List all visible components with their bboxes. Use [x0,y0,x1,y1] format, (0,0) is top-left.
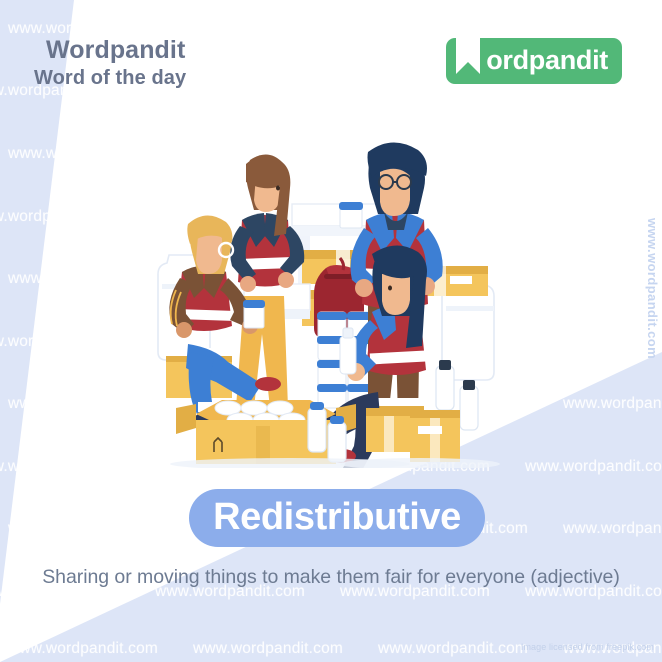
watermark-text: www.wordpandit.com [563,395,662,413]
wordpandit-logo[interactable]: ordpandit [446,38,622,84]
brand-subtitle: Word of the day [34,66,186,91]
front-cartons-right [366,408,460,462]
watermark-vertical: www.wordpandit.com [645,218,660,359]
word-term: Redistributive [213,498,461,539]
brand-title: Wordpandit [46,36,186,64]
watermark-text: www.wordpandit.com [193,640,343,658]
word-of-the-day-pill: Redistributive [189,489,485,547]
held-cup [339,202,363,228]
held-cup-2 [243,300,265,328]
logo-text: ordpandit [486,47,608,76]
illustration-volunteers [140,108,535,468]
word-of-the-day-card: www.wordpandit.comwww.wordpandit.comwww.… [0,0,662,662]
image-credit: Image licensed from freepik.com [521,642,654,652]
word-definition: Sharing or moving things to make them fa… [0,566,662,589]
bookmark-w-icon [456,34,480,74]
header-block: Wordpandit Word of the day [46,36,186,91]
